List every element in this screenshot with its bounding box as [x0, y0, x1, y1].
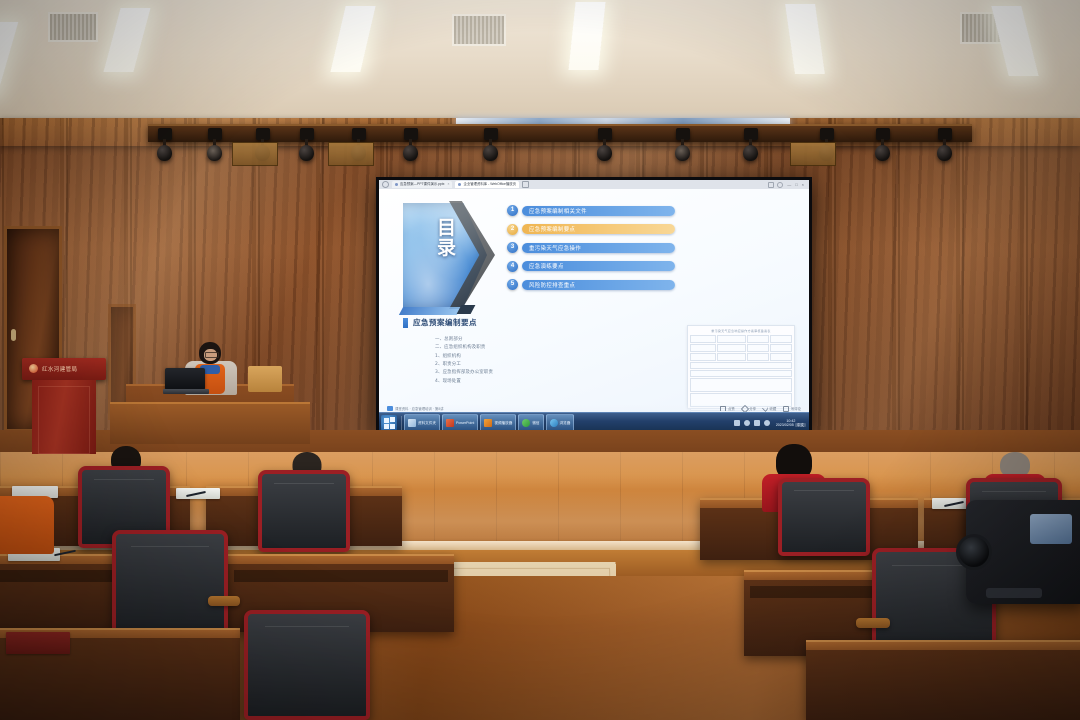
- heart-icon: [762, 405, 769, 412]
- ceiling-vent: [48, 12, 98, 42]
- toc-item-2[interactable]: 2 应急预案编制要点: [507, 224, 675, 235]
- section-decoration-dark: [457, 305, 476, 314]
- cloud-icon[interactable]: [764, 420, 770, 426]
- form-row: [690, 362, 792, 369]
- audience-chair[interactable]: [258, 470, 350, 552]
- toc-item-5-label: 风险防控排查重点: [522, 280, 675, 290]
- taskbar-divider: [401, 416, 402, 431]
- taskbar-button-wechat-label: 微信: [532, 421, 539, 426]
- search-icon[interactable]: [382, 181, 389, 188]
- section-decoration: [399, 307, 461, 315]
- battery-icon[interactable]: [754, 420, 760, 426]
- truss-panel: [328, 142, 374, 166]
- favicon-icon: [458, 183, 461, 186]
- podium-body: [32, 380, 96, 454]
- truss-panel: [232, 142, 278, 166]
- speaker-podium: 红水河建管局: [22, 358, 106, 454]
- toc-badge: 目录: [403, 203, 487, 307]
- door-handle[interactable]: [11, 329, 16, 341]
- ceiling: [0, 0, 1080, 122]
- form-header-grid: [690, 335, 792, 361]
- slide-body-list: 一、总则部分 二、应急组织机构及职责 1、组织机构 2、职责分工 3、应急指挥部…: [435, 336, 555, 386]
- section-heading-label: 应急预案编制要点: [413, 317, 477, 328]
- body-line-3: 1、组织机构: [435, 353, 555, 361]
- form-document-image: 重污染天气应急响应操作方案审核备案表: [687, 325, 795, 409]
- form-row: [690, 378, 792, 392]
- toc-item-3-label: 重污染天气应急操作: [522, 243, 675, 253]
- podium-top: 红水河建管局: [22, 358, 106, 380]
- like-label: 点赞: [728, 406, 735, 411]
- body-line-5: 3、应急指挥部及办公室职责: [435, 369, 555, 377]
- media-icon: [484, 419, 492, 427]
- account-icon[interactable]: [777, 182, 783, 188]
- ceiling-vent: [452, 14, 506, 46]
- start-button-icon[interactable]: [381, 415, 397, 431]
- audience-chair[interactable]: [778, 478, 870, 556]
- audience-chair[interactable]: [112, 530, 228, 642]
- browser-tab-2-label: 企业管理资料库 - WebOffice播放页: [463, 183, 516, 186]
- toc-badge-label: 目录: [429, 219, 465, 259]
- favorite-action[interactable]: 收藏: [763, 406, 776, 411]
- minimize-button[interactable]: —: [787, 183, 791, 187]
- ceiling-light: [0, 22, 18, 94]
- heading-marker-icon: [403, 318, 408, 328]
- toc-number: 5: [507, 279, 518, 290]
- ime-indicator[interactable]: 中文: [795, 423, 806, 427]
- toc-list: 1 应急预案编制相关文件 2 应急预案编制要点 3 重污染天气应急操作 4 应急…: [507, 205, 675, 298]
- toc-number: 2: [507, 224, 518, 235]
- form-row: [690, 370, 792, 377]
- comment-icon: [783, 406, 789, 412]
- camera-grip: [986, 588, 1042, 598]
- ceiling-light: [330, 6, 375, 72]
- form-title: 重污染天气应急响应操作方案审核备案表: [690, 329, 792, 333]
- bookmark-icon[interactable]: [768, 182, 774, 188]
- ceiling-light: [103, 8, 150, 72]
- browser-tab-1[interactable]: 应急预案—PPT课件演示.pptx ×: [392, 181, 452, 188]
- audience-desk-front: [806, 640, 1080, 720]
- favicon-icon: [395, 183, 398, 186]
- body-line-2: 二、应急组织机构及职责: [435, 344, 555, 352]
- conference-room-scene: 应急预案—PPT课件演示.pptx × 企业管理资料库 - WebOffice播…: [0, 0, 1080, 720]
- screen-content: 应急预案—PPT课件演示.pptx × 企业管理资料库 - WebOffice播…: [379, 180, 809, 433]
- toc-number: 3: [507, 242, 518, 253]
- lighting-truss: [148, 124, 972, 142]
- browser-tab-strip: 应急预案—PPT课件演示.pptx × 企业管理资料库 - WebOffice播…: [379, 180, 809, 189]
- video-camera: [966, 500, 1080, 604]
- toc-item-1-label: 应急预案编制相关文件: [522, 206, 675, 216]
- source-badge-icon: [387, 406, 393, 411]
- glasses-icon: [205, 352, 219, 358]
- ceiling-light: [568, 2, 605, 70]
- slide-source: 课堂资料 · 应急管理培训 · 第8讲: [387, 406, 444, 411]
- browser-tab-1-label: 应急预案—PPT课件演示.pptx: [400, 183, 444, 186]
- close-icon[interactable]: ×: [447, 183, 449, 186]
- system-tray: 10:42 2023/02/05 中文: [734, 419, 809, 428]
- slide-source-label: 课堂资料 · 应急管理培训 · 第8讲: [395, 406, 444, 411]
- desk-box: [248, 366, 282, 392]
- toc-item-1[interactable]: 1 应急预案编制相关文件: [507, 205, 675, 216]
- laptop-keyboard: [163, 389, 209, 394]
- toolbar-icons: [768, 182, 783, 188]
- social-actions: 点赞 分享 收藏 写评论: [720, 406, 801, 412]
- body-line-6: 4、现场处置: [435, 378, 555, 386]
- toc-item-2-label: 应急预案编制要点: [522, 224, 675, 234]
- presentation-slide: 目录 1 应急预案编制相关文件 2 应急预案编制要点 3 重污染天气应急操作: [379, 189, 809, 413]
- clock-date: 2023/02/05: [776, 423, 794, 427]
- browser-tab-2[interactable]: 企业管理资料库 - WebOffice播放页: [455, 181, 519, 188]
- share-label: 分享: [749, 406, 756, 411]
- share-action[interactable]: 分享: [742, 406, 756, 412]
- ceiling-light: [785, 4, 825, 74]
- chair-armrest: [856, 618, 890, 628]
- wechat-icon: [522, 419, 530, 427]
- taskbar-clock[interactable]: 10:42 2023/02/05 中文: [774, 419, 806, 428]
- toc-item-4[interactable]: 4 应急演练要点: [507, 261, 675, 272]
- new-tab-icon[interactable]: [522, 181, 529, 188]
- toc-number: 4: [507, 261, 518, 272]
- browser-icon: [550, 419, 558, 427]
- comment-label: 写评论: [791, 406, 801, 411]
- section-heading: 应急预案编制要点: [403, 317, 477, 328]
- toc-item-4-label: 应急演练要点: [522, 261, 675, 271]
- taskbar-button-folder-label: 资料文件夹: [418, 421, 436, 426]
- emblem-logo-icon: [29, 364, 38, 373]
- toc-number: 1: [507, 205, 518, 216]
- audience-chair[interactable]: [244, 610, 370, 720]
- comment-action[interactable]: 写评论: [783, 406, 801, 412]
- led-display-panel: 应急预案—PPT课件演示.pptx × 企业管理资料库 - WebOffice播…: [376, 177, 812, 436]
- presenter-desk-front: [110, 402, 310, 444]
- network-icon[interactable]: [734, 420, 740, 426]
- taskbar-button-powerpoint-label: PowerPoint: [456, 421, 474, 425]
- camera-viewfinder: [1030, 514, 1072, 544]
- notebook: [6, 632, 70, 654]
- favorite-label: 收藏: [770, 406, 777, 411]
- volume-icon[interactable]: [744, 420, 750, 426]
- close-button[interactable]: ×: [802, 183, 804, 187]
- presenter-laptop[interactable]: [165, 368, 207, 394]
- attendee-torso: [0, 496, 54, 554]
- thumbs-up-icon: [720, 406, 726, 411]
- body-line-4: 2、职责分工: [435, 361, 555, 369]
- podium-label: 红水河建管局: [42, 365, 77, 373]
- body-line-1: 一、总则部分: [435, 336, 555, 344]
- powerpoint-icon: [446, 419, 454, 427]
- camera-lens-icon: [956, 534, 992, 570]
- like-action[interactable]: 点赞: [720, 406, 734, 411]
- taskbar-button-browser-label: 浏览器: [560, 421, 571, 426]
- maximize-button[interactable]: □: [795, 183, 797, 187]
- attendee-left-3: [0, 470, 54, 548]
- folder-icon: [408, 419, 416, 427]
- toc-item-3[interactable]: 3 重污染天气应急操作: [507, 242, 675, 253]
- laptop-screen: [165, 368, 205, 390]
- chair-armrest: [208, 596, 240, 606]
- window-controls: — □ ×: [764, 182, 806, 188]
- toc-item-5[interactable]: 5 风险防控排查重点: [507, 279, 675, 290]
- taskbar-button-media-label: 视频播放器: [494, 421, 512, 426]
- truss-panel: [790, 142, 836, 166]
